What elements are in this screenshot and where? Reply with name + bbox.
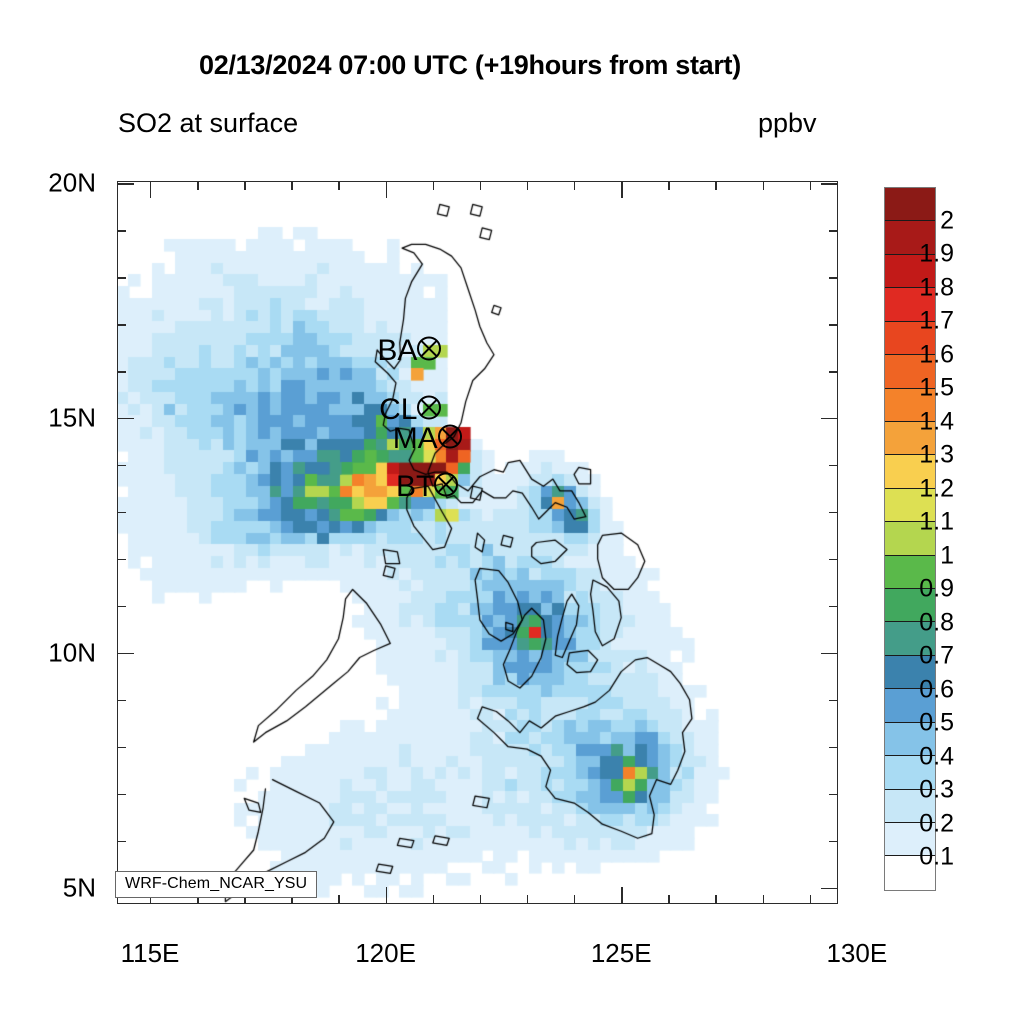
x-tick-124 (574, 895, 575, 904)
x-tick-top-115 (150, 181, 151, 198)
x-tick-125 (621, 887, 622, 904)
x-tick-119 (338, 895, 339, 904)
y-tick-19 (117, 230, 126, 231)
so2-map-figure: 02/13/2024 07:00 UTC (+19hours from star… (0, 0, 1024, 1024)
colorbar-tick-1.2: 1.2 (919, 474, 954, 503)
so2-concentration-raster (117, 181, 838, 904)
colorbar-units-label: ppbv (758, 108, 817, 139)
colorbar-tick-0.1: 0.1 (919, 843, 954, 872)
y-tick-18 (117, 277, 126, 278)
y-tick-right-15 (821, 418, 838, 419)
x-tick-top-129 (810, 181, 811, 190)
y-axis-label-15N: 15N (20, 403, 96, 434)
y-tick-right-5 (821, 888, 838, 889)
y-tick-17 (117, 324, 126, 325)
y-tick-right-11 (829, 606, 838, 607)
y-tick-right-13 (829, 512, 838, 513)
y-tick-right-18 (829, 277, 838, 278)
y-tick-right-14 (829, 465, 838, 466)
x-tick-top-116 (197, 181, 198, 190)
y-tick-right-9 (829, 700, 838, 701)
x-tick-128 (763, 895, 764, 904)
x-tick-127 (715, 895, 716, 904)
station-marker-bt (431, 469, 461, 504)
x-tick-top-127 (715, 181, 716, 190)
x-axis-label-115E: 115E (121, 938, 180, 969)
y-tick-right-19 (829, 230, 838, 231)
y-tick-right-7 (829, 794, 838, 795)
colorbar-tick-0.3: 0.3 (919, 776, 954, 805)
y-tick-9 (117, 700, 126, 701)
y-axis-label-20N: 20N (20, 168, 96, 199)
y-axis-label-5N: 5N (20, 872, 96, 903)
x-tick-122 (480, 895, 481, 904)
colorbar-band-0 (885, 188, 935, 221)
x-tick-120 (386, 887, 387, 904)
colorbar-tick-1.1: 1.1 (919, 508, 954, 537)
y-tick-11 (117, 606, 126, 607)
y-tick-right-6 (829, 841, 838, 842)
x-tick-top-122 (480, 181, 481, 190)
station-label-ma: MA (393, 422, 438, 456)
colorbar-tick-0.8: 0.8 (919, 608, 954, 637)
y-tick-20 (117, 183, 134, 184)
y-tick-right-10 (821, 653, 838, 654)
y-tick-12 (117, 559, 126, 560)
station-marker-ma (435, 421, 465, 456)
x-tick-top-118 (291, 181, 292, 190)
x-tick-126 (668, 895, 669, 904)
colorbar-tick-0.2: 0.2 (919, 809, 954, 838)
plot-subtitle: SO2 at surface (118, 108, 298, 139)
x-tick-top-123 (527, 181, 528, 190)
x-tick-top-117 (244, 181, 245, 190)
station-label-ba: BA (377, 334, 417, 368)
y-tick-8 (117, 747, 126, 748)
station-label-bt: BT (396, 470, 434, 504)
x-tick-129 (810, 895, 811, 904)
colorbar-tick-2: 2 (940, 206, 954, 235)
colorbar-tick-1.7: 1.7 (919, 307, 954, 336)
y-tick-right-16 (829, 371, 838, 372)
colorbar-tick-1.5: 1.5 (919, 374, 954, 403)
x-axis-label-125E: 125E (591, 938, 652, 969)
colorbar-tick-1.9: 1.9 (919, 240, 954, 269)
colorbar-tick-0.6: 0.6 (919, 675, 954, 704)
y-tick-right-12 (829, 559, 838, 560)
colorbar-tick-0.9: 0.9 (919, 575, 954, 604)
colorbar-tick-1.8: 1.8 (919, 273, 954, 302)
x-tick-top-128 (763, 181, 764, 190)
y-tick-13 (117, 512, 126, 513)
x-tick-top-126 (668, 181, 669, 190)
y-axis-label-10N: 10N (20, 637, 96, 668)
y-tick-7 (117, 794, 126, 795)
y-tick-6 (117, 841, 126, 842)
colorbar-tick-1.4: 1.4 (919, 407, 954, 436)
colorbar-tick-1.3: 1.3 (919, 441, 954, 470)
y-tick-14 (117, 465, 126, 466)
model-label-box: WRF-Chem_NCAR_YSU (115, 871, 317, 898)
map-plot-area: BACLMABT (117, 181, 838, 904)
x-tick-top-125 (621, 181, 622, 198)
x-tick-123 (527, 895, 528, 904)
x-tick-top-120 (386, 181, 387, 198)
y-tick-right-17 (829, 324, 838, 325)
colorbar-tick-1: 1 (940, 541, 954, 570)
x-tick-top-119 (338, 181, 339, 190)
x-tick-top-121 (433, 181, 434, 190)
y-tick-right-8 (829, 747, 838, 748)
x-axis-label-120E: 120E (355, 938, 416, 969)
x-tick-121 (433, 895, 434, 904)
page-title: 02/13/2024 07:00 UTC (+19hours from star… (0, 50, 940, 81)
station-marker-ba (414, 334, 444, 369)
x-tick-top-124 (574, 181, 575, 190)
colorbar-tick-0.7: 0.7 (919, 642, 954, 671)
colorbar-tick-0.4: 0.4 (919, 742, 954, 771)
y-tick-10 (117, 653, 134, 654)
x-axis-label-130E: 130E (826, 938, 887, 969)
y-tick-right-20 (821, 183, 838, 184)
colorbar-tick-1.6: 1.6 (919, 340, 954, 369)
colorbar-tick-0.5: 0.5 (919, 709, 954, 738)
y-tick-16 (117, 371, 126, 372)
y-tick-15 (117, 418, 134, 419)
